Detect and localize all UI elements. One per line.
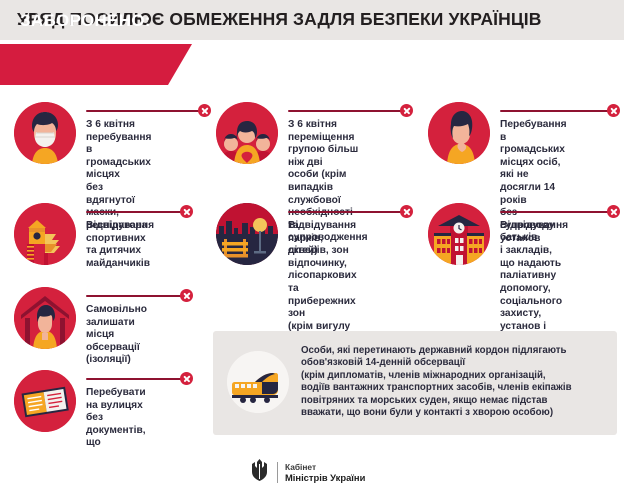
connector-line (86, 211, 186, 213)
connector (86, 104, 151, 118)
playground-slide-icon (14, 203, 76, 265)
footer-line-2: Міністрів України (285, 472, 365, 483)
id-document-icon (14, 370, 76, 432)
restriction-text: Відвідування спортивних та дитячих майда… (86, 220, 154, 270)
forbidden-banner-label: ЗАБОРОНЕНО: (20, 11, 151, 31)
footer-divider (277, 462, 278, 483)
connector (500, 104, 567, 118)
forbidden-x-icon (607, 205, 620, 218)
connector (288, 104, 368, 118)
footer: Кабінет Міністрів України (0, 449, 624, 489)
connector-line (86, 110, 204, 112)
connector (86, 372, 151, 386)
park-bench-lamp-icon (216, 203, 278, 265)
forbidden-x-icon (180, 372, 193, 385)
connector (86, 289, 147, 303)
forbidden-banner (0, 44, 192, 85)
connector-line (86, 295, 186, 297)
institution-building-icon (428, 203, 490, 265)
infographic-page: УРЯД ПОСИЛЮЄ ОБМЕЖЕННЯ ЗАДЛЯ БЕЗПЕКИ УКР… (0, 0, 624, 489)
restriction-text: Самовільно залишати місця обсервації (із… (86, 304, 147, 367)
child-person-icon (428, 102, 490, 164)
forbidden-x-icon (180, 289, 193, 302)
forbidden-x-icon (180, 205, 193, 218)
forbidden-x-icon (400, 205, 413, 218)
group-of-people-icon (216, 102, 278, 164)
person-face-mask-icon (14, 102, 76, 164)
connector (86, 205, 154, 219)
forbidden-x-icon (400, 104, 413, 117)
connector-line (500, 110, 613, 112)
connector-line (288, 211, 406, 213)
forbidden-x-icon (198, 104, 211, 117)
home-isolation-icon (14, 287, 76, 349)
border-crossing-text: Особи, які перетинають державний кордон … (301, 345, 606, 419)
connector-line (500, 211, 613, 213)
connector-line (86, 378, 186, 380)
connector (288, 205, 357, 219)
footer-line-1: Кабінет (285, 462, 365, 472)
connector-line (288, 110, 406, 112)
ukraine-trident-icon (249, 458, 270, 487)
forbidden-x-icon (607, 104, 620, 117)
train-icon (227, 351, 289, 413)
connector (500, 205, 568, 219)
border-crossing-note: Особи, які перетинають державний кордон … (213, 331, 617, 435)
